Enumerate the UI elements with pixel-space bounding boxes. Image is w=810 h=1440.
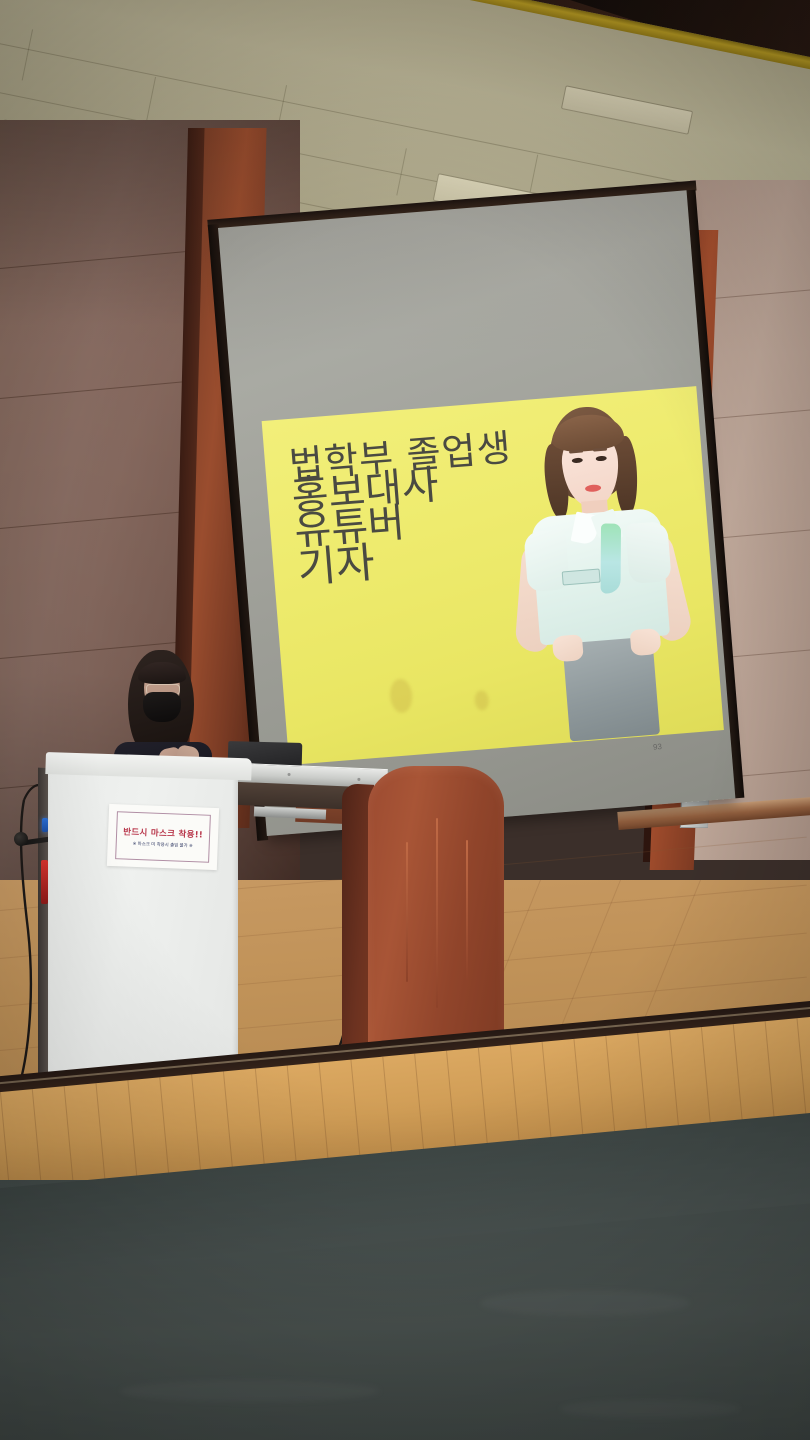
mask-sign-subtitle: ※ 마스크 미 착용시 출입 불가 ※ <box>133 840 193 848</box>
podium-mic-head <box>14 832 28 846</box>
mask-sign-title: 반드시 마스크 착용!! <box>123 825 203 840</box>
lectern-groove-3 <box>466 840 468 980</box>
lectern-front-panel <box>368 766 504 1068</box>
slide-person-photo <box>491 393 708 747</box>
presenter-face-mask <box>143 692 181 722</box>
screen-corner-mark: 93 <box>653 742 663 752</box>
lectern-groove-1 <box>406 842 408 982</box>
presenter-bangs <box>138 662 186 684</box>
slide-person-hand-left <box>552 634 584 662</box>
slide-person-sleeve-right <box>625 521 672 584</box>
lectern-groove-2 <box>436 818 438 1008</box>
slide-person-hand-right <box>630 628 662 656</box>
mask-sign-border: 반드시 마스크 착용!! ※ 마스크 미 착용시 출입 불가 ※ <box>115 811 211 863</box>
slide-person-scarf <box>601 523 621 593</box>
podium-red-indicator[interactable] <box>41 860 48 904</box>
projection-screen: 법학부 졸업생 홍보대사 유튜버 기자 <box>218 190 735 836</box>
wooden-lectern <box>340 756 530 1076</box>
mask-required-sign: 반드시 마스크 착용!! ※ 마스크 미 착용시 출입 불가 ※ <box>107 804 219 870</box>
presentation-slide: 법학부 졸업생 홍보대사 유튜버 기자 <box>262 386 724 765</box>
lecture-hall-scene: 법학부 졸업생 홍보대사 유튜버 기자 <box>0 0 810 1440</box>
